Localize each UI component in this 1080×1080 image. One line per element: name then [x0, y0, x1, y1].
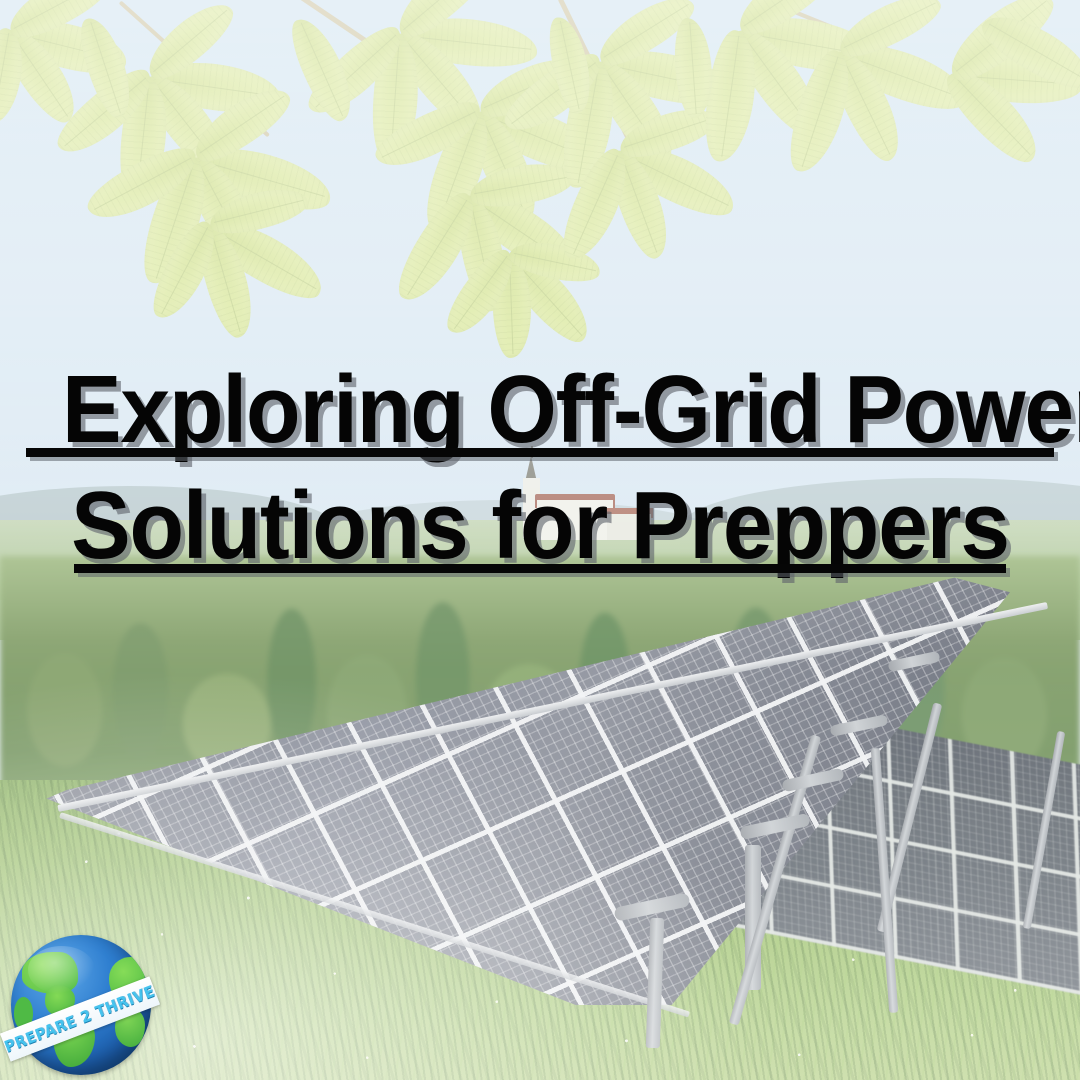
chestnut-leaf-canopy — [0, 0, 1080, 340]
title-underline-1 — [26, 448, 1054, 457]
title-underline-2 — [74, 564, 1006, 573]
prepare-2-thrive-logo[interactable]: PREPARE 2 THRIVE — [8, 932, 154, 1078]
page-title: Exploring Off-Grid Power Solutions for P… — [0, 352, 1080, 584]
globe-highlight — [28, 946, 95, 994]
poster-canvas: Exploring Off-Grid Power Solutions for P… — [0, 0, 1080, 1080]
